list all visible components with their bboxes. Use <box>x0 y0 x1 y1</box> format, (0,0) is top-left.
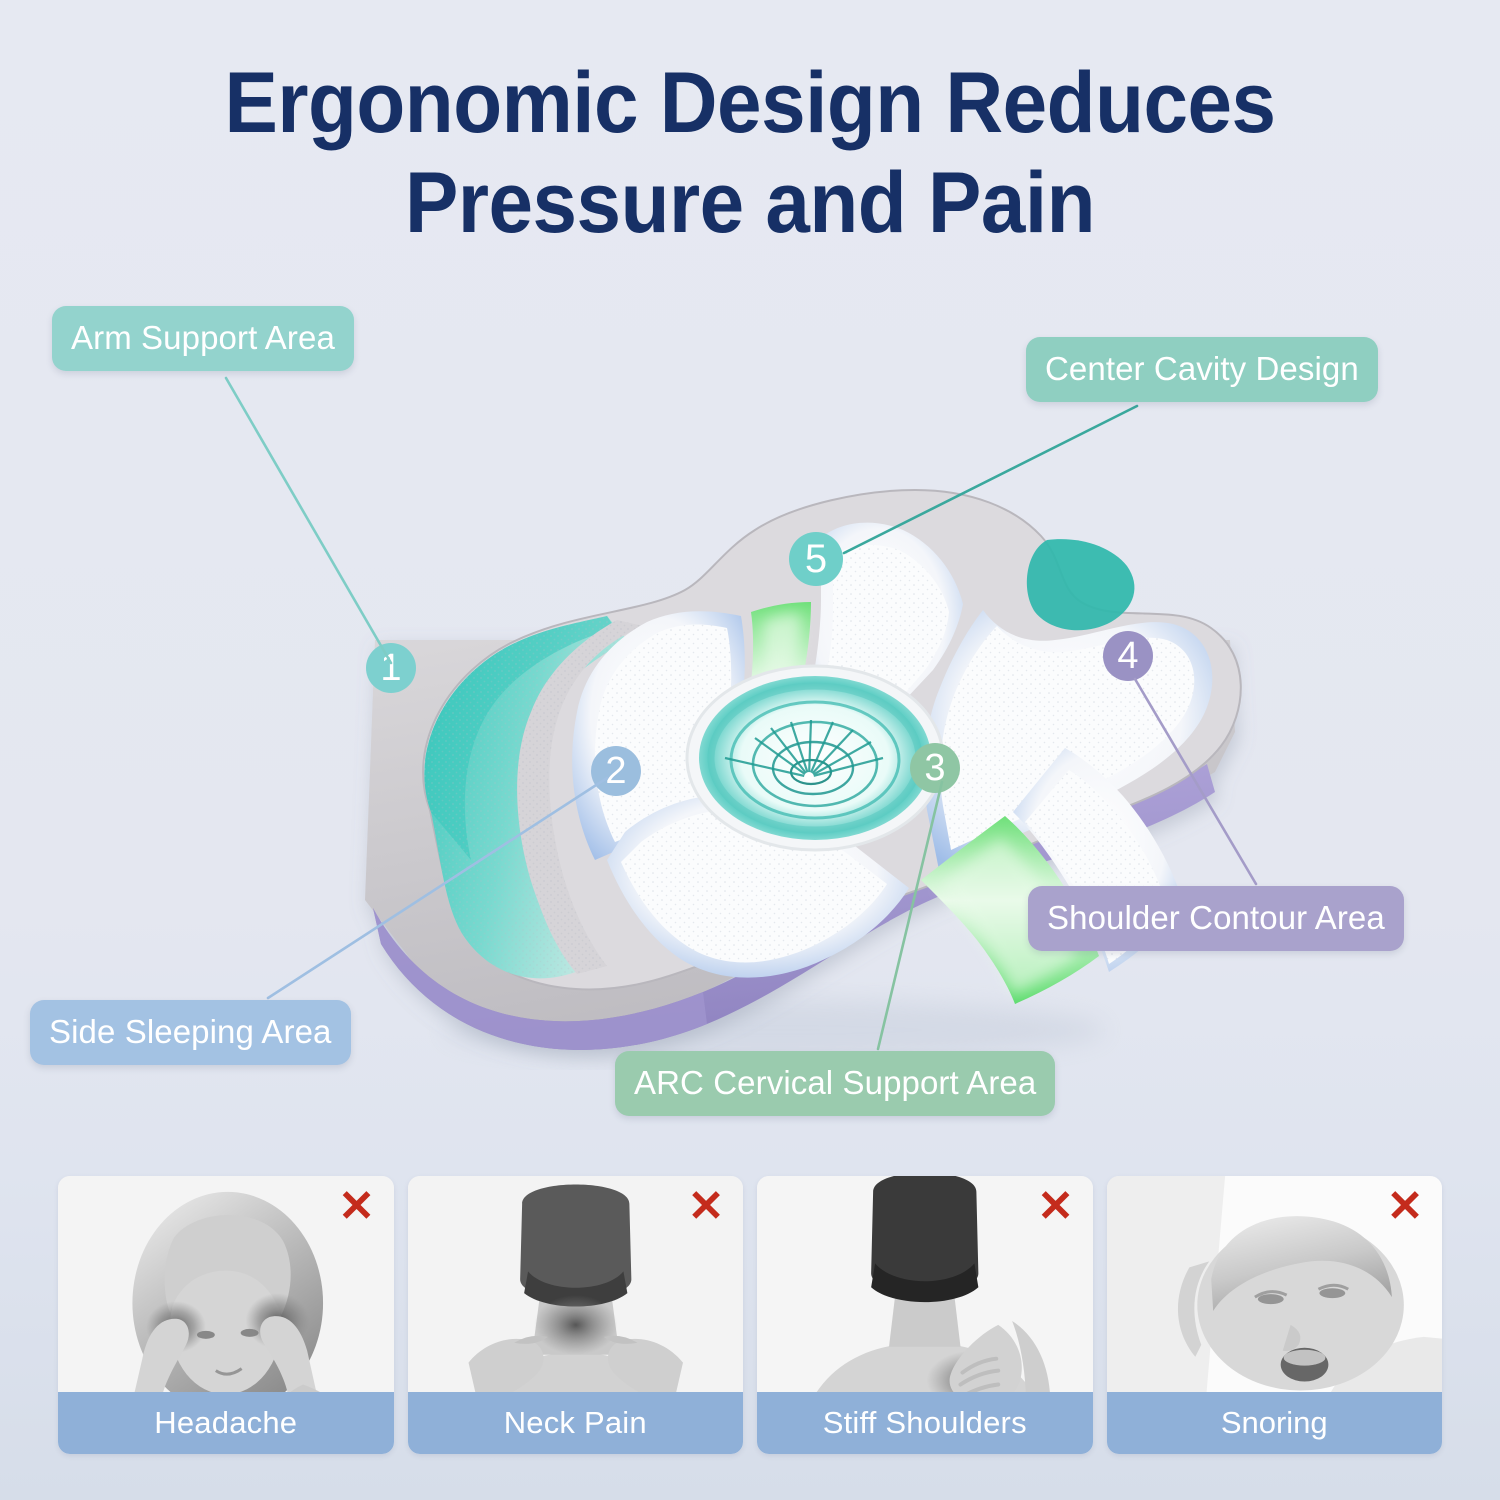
symptom-caption-headache: Headache <box>58 1392 394 1454</box>
x-mark-icon: ✕ <box>338 1188 376 1226</box>
callout-arm-support-area[interactable]: Arm Support Area <box>52 306 354 371</box>
svg-text:4: 4 <box>1117 635 1138 677</box>
symptom-card-neck-pain[interactable]: ✕ Neck Pain <box>408 1176 744 1454</box>
x-mark-icon: ✕ <box>1386 1188 1424 1226</box>
marker-5: 5 <box>789 532 843 586</box>
marker-2: 2 <box>591 746 641 796</box>
svg-text:5: 5 <box>805 537 827 581</box>
symptom-caption-snoring: Snoring <box>1107 1392 1443 1454</box>
marker-4: 4 <box>1103 631 1153 681</box>
x-mark-icon: ✕ <box>687 1188 725 1226</box>
symptom-card-snoring[interactable]: ✕ Snoring <box>1107 1176 1443 1454</box>
svg-text:2: 2 <box>605 750 626 792</box>
symptom-caption-neck-pain: Neck Pain <box>408 1392 744 1454</box>
symptom-card-headache[interactable]: ✕ Headache <box>58 1176 394 1454</box>
infographic-root: Ergonomic Design Reduces Pressure and Pa… <box>0 0 1500 1500</box>
page-title: Ergonomic Design Reduces Pressure and Pa… <box>53 54 1448 254</box>
center-cavity <box>687 666 943 850</box>
x-mark-icon: ✕ <box>1037 1188 1075 1226</box>
svg-text:1: 1 <box>380 647 401 689</box>
marker-1: 1 <box>366 643 416 693</box>
callout-side-sleeping-area[interactable]: Side Sleeping Area <box>30 1000 351 1065</box>
pillow-diagram: 1 2 3 4 5 <box>255 340 1265 1070</box>
callout-center-cavity-design[interactable]: Center Cavity Design <box>1026 337 1378 402</box>
page-title-line-2: Pressure and Pain <box>53 154 1448 254</box>
callout-arc-cervical-support-area[interactable]: ARC Cervical Support Area <box>615 1051 1055 1116</box>
marker-3: 3 <box>910 743 960 793</box>
callout-shoulder-contour-area[interactable]: Shoulder Contour Area <box>1028 886 1404 951</box>
page-title-line-1: Ergonomic Design Reduces <box>53 54 1448 154</box>
symptom-card-row: ✕ Headache <box>58 1176 1442 1454</box>
svg-text:3: 3 <box>924 747 945 789</box>
symptom-caption-stiff-shoulders: Stiff Shoulders <box>757 1392 1093 1454</box>
symptom-card-stiff-shoulders[interactable]: ✕ Stiff Shoulders <box>757 1176 1093 1454</box>
